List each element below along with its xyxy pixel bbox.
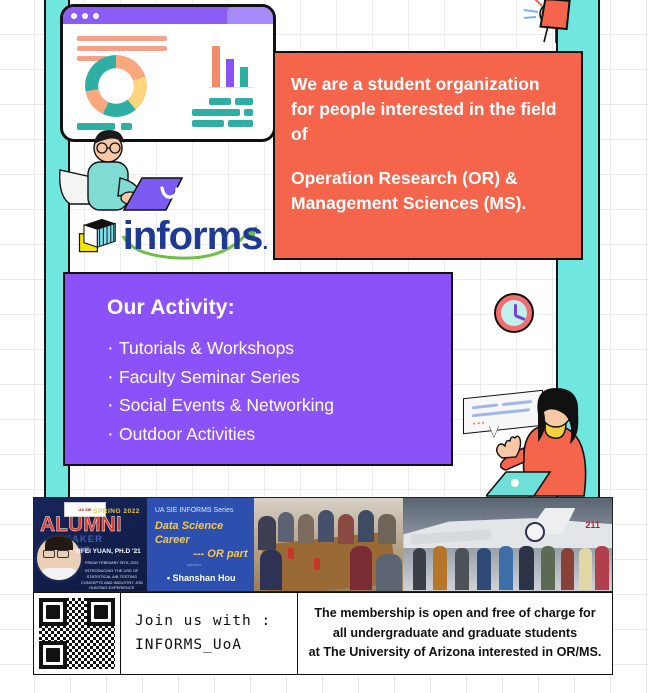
text-line	[228, 120, 253, 127]
activity-item: Outdoor Activities	[107, 420, 451, 449]
activity-item: Faculty Seminar Series	[107, 363, 451, 392]
photo-person	[278, 512, 294, 542]
membership-line-3: at The University of Arizona interested …	[309, 643, 602, 663]
photo-person	[519, 546, 534, 590]
activity-box: Our Activity: Tutorials & Workshops Facu…	[63, 272, 453, 466]
photo-tail-number: 211	[585, 520, 600, 530]
photo-person	[298, 514, 314, 544]
donut-chart	[85, 55, 147, 117]
photo-cup	[314, 558, 320, 570]
dashboard-illustration	[60, 4, 276, 142]
activity-item: Tutorials & Workshops	[107, 334, 451, 363]
bar-chart	[208, 44, 254, 88]
dashboard-body	[63, 24, 273, 136]
photo-person	[595, 546, 609, 590]
text-line	[192, 109, 240, 116]
photo-person	[579, 548, 592, 590]
membership-line-2: all undergraduate and graduate students	[309, 624, 602, 644]
qr-eye-bottom-left	[39, 641, 67, 669]
text-line	[209, 98, 231, 105]
activity-list: Tutorials & Workshops Faculty Seminar Se…	[107, 334, 451, 448]
window-dot-green	[93, 13, 99, 19]
informs-logo: informs.	[78, 208, 268, 264]
slide-speaker-label: speaker	[187, 562, 201, 567]
poster-date: FRIDAY FEBRUARY 25TH, 2022	[81, 561, 143, 566]
activity-item: Social Events & Networking	[107, 391, 451, 420]
qr-eye-top-right	[87, 598, 115, 626]
poster-speaker-name: YIFEI YUAN, PH.D '21	[75, 548, 141, 555]
photo-strip: UA SIE SPRING 2022 ALUMNI SPEAKER SERIES…	[33, 497, 613, 592]
poster-headline: ALUMNI	[40, 514, 122, 535]
photo-person	[477, 548, 491, 590]
clock-hand-hour	[515, 314, 526, 320]
speaker-portrait	[35, 534, 83, 582]
statement-box: We are a student organization for people…	[273, 51, 583, 260]
join-us-cell: Join us with : INFORMS_UoA	[121, 592, 298, 675]
text-line	[235, 98, 253, 105]
person-with-laptop-illustration	[58, 126, 186, 214]
text-line	[192, 120, 224, 127]
window-dot-yellow	[82, 13, 88, 19]
footer-row: Join us with : INFORMS_UoA The membershi…	[33, 592, 613, 675]
join-line-1: Join us with :	[135, 610, 297, 634]
bubble-dots: •••	[473, 420, 486, 428]
clock-icon	[494, 293, 534, 333]
photo-person	[358, 510, 374, 542]
photo-person	[258, 516, 276, 550]
qr-code[interactable]	[39, 598, 115, 669]
qr-code-cell[interactable]	[33, 592, 121, 675]
bar	[240, 67, 248, 87]
photo-person	[378, 514, 396, 544]
talk-slide: UA SIE INFORMS Series Data Science Caree…	[147, 498, 254, 591]
photo-person	[455, 548, 469, 590]
photo-cup	[288, 548, 294, 559]
photo-person	[350, 546, 372, 590]
clock-face	[501, 300, 527, 326]
slide-title-main: Data Science Career	[155, 520, 223, 546]
photo-person	[433, 546, 447, 590]
person-presenting-illustration	[486, 388, 616, 498]
statement-paragraph-1: We are a student organization for people…	[291, 72, 565, 148]
slide-speaker-name: • Shanshan Hou	[155, 573, 248, 583]
photo-person	[541, 546, 555, 590]
bar	[212, 46, 220, 87]
statement-paragraph-2: Operation Research (OR) & Management Sci…	[291, 166, 565, 216]
photo-person	[260, 550, 282, 590]
alumni-speaker-poster: UA SIE SPRING 2022 ALUMNI SPEAKER SERIES…	[34, 498, 147, 591]
text-line	[77, 36, 167, 41]
photo-person	[376, 554, 402, 591]
photo-person	[318, 510, 334, 542]
photo-person	[561, 548, 574, 590]
photo-person	[413, 548, 426, 590]
qr-eye-top-left	[39, 598, 67, 626]
membership-line-1: The membership is open and free of charg…	[309, 604, 602, 624]
activity-title: Our Activity:	[107, 296, 451, 320]
membership-cell: The membership is open and free of charg…	[298, 592, 613, 675]
slide-series-label: UA SIE INFORMS Series	[155, 507, 234, 514]
text-line	[77, 46, 167, 51]
aircraft-hangar-photo: 211	[403, 498, 612, 591]
slide-title-part2: --- OR part	[155, 548, 248, 562]
megaphone-icon	[512, 0, 592, 44]
join-line-2: INFORMS_UoA	[135, 634, 297, 658]
dashboard-titlebar	[63, 7, 273, 24]
informs-wordmark: informs	[123, 214, 263, 258]
informs-poster: informs. We are a student organization f…	[0, 0, 648, 693]
slide-title: Data Science Career --- OR part	[155, 520, 248, 561]
window-dot-red	[71, 13, 77, 19]
bar	[226, 59, 234, 87]
photo-person	[499, 546, 513, 590]
photo-person	[338, 514, 354, 544]
group-dinner-photo	[254, 498, 404, 591]
poster-blurb: INTRODUCING THE USE OF STATISTICAL A/B T…	[81, 568, 143, 591]
informs-cube-icon	[78, 211, 117, 261]
text-line	[244, 109, 253, 116]
